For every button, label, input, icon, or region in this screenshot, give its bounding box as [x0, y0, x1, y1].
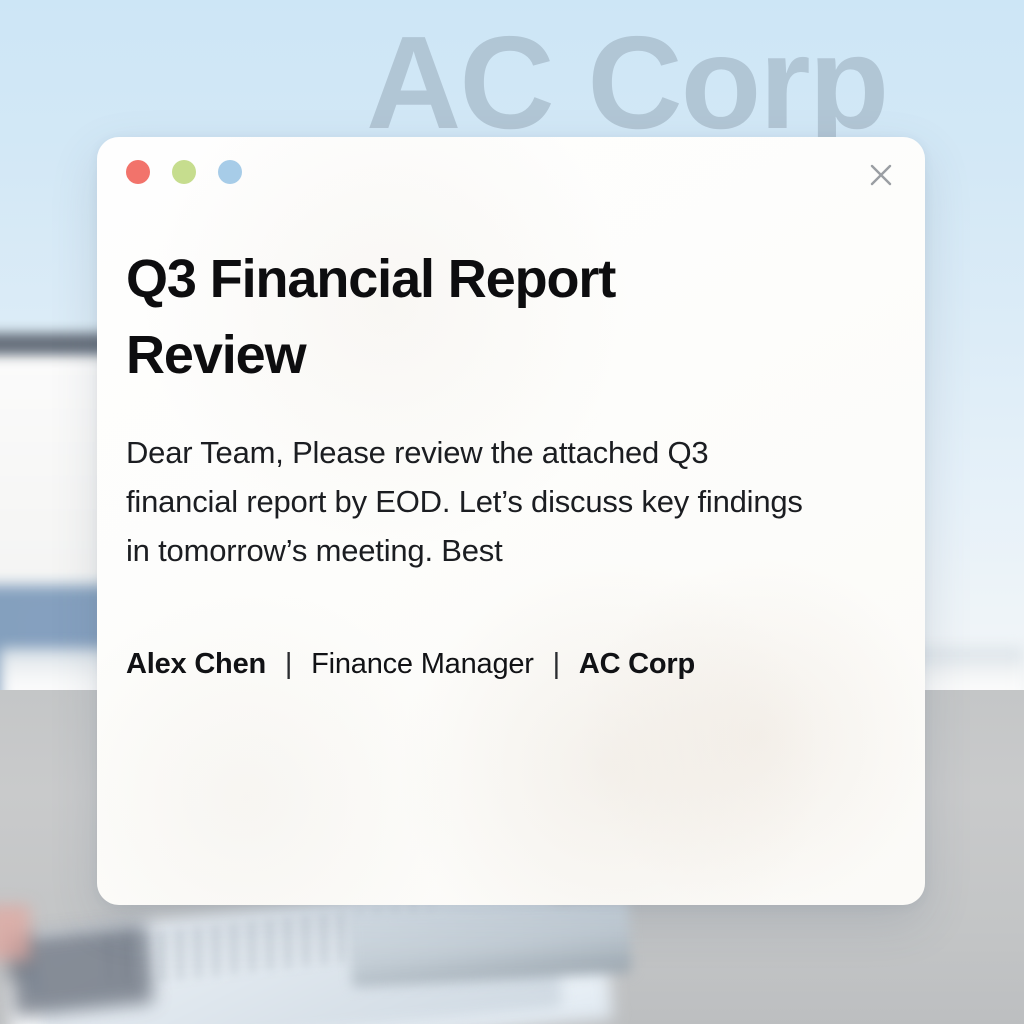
company-watermark: AC Corp: [366, 14, 887, 153]
message-title: Q3 Financial Report Review: [126, 242, 751, 393]
maximize-dot[interactable]: [218, 160, 242, 184]
minimize-dot[interactable]: [172, 160, 196, 184]
background-red-object: [0, 905, 30, 960]
signature-separator-2: |: [553, 648, 560, 681]
signature-company: AC Corp: [579, 648, 695, 680]
signature-role: Finance Manager: [311, 648, 534, 680]
signature-name: Alex Chen: [126, 648, 266, 680]
close-dot[interactable]: [126, 160, 150, 184]
message-card: Q3 Financial Report Review Dear Team, Pl…: [97, 137, 925, 905]
traffic-light-dots: [126, 160, 242, 184]
background-book: [348, 898, 632, 988]
window-chrome: [97, 137, 925, 215]
signature-separator-1: |: [285, 648, 292, 681]
message-body: Dear Team, Please review the attached Q3…: [126, 429, 816, 576]
close-x-icon: [866, 160, 896, 190]
card-content: Q3 Financial Report Review Dear Team, Pl…: [126, 242, 885, 681]
close-button[interactable]: [860, 154, 902, 196]
signature-line: Alex Chen | Finance Manager | AC Corp: [126, 648, 885, 681]
